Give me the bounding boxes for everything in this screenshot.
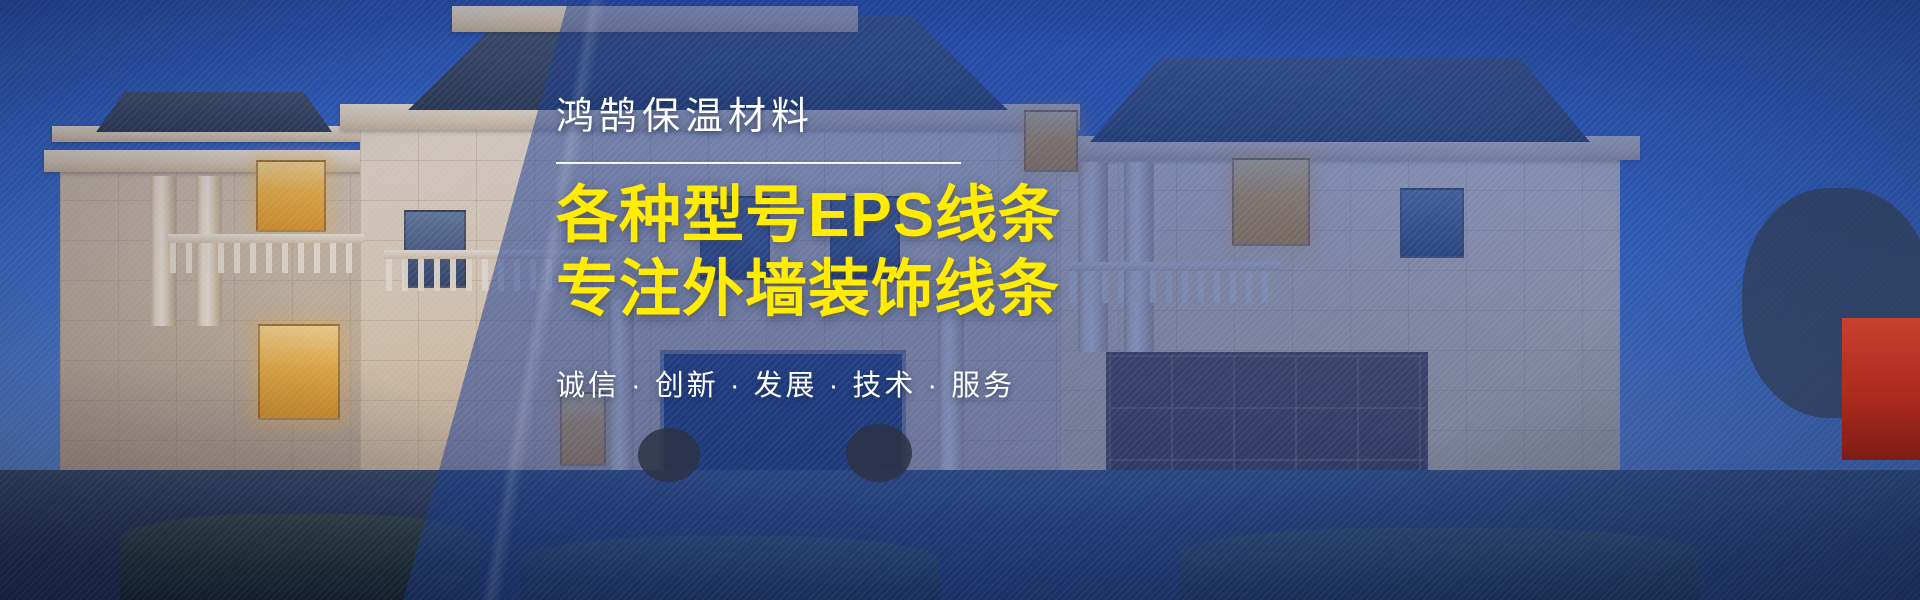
divider-rule: [556, 162, 961, 164]
headline-line-1: 各种型号EPS线条: [556, 182, 1316, 250]
tagline: 诚信 · 创新 · 发展 · 技术 · 服务: [556, 362, 1316, 404]
hero-banner: 鸿鹄保温材料 各种型号EPS线条 专注外墙装饰线条 诚信 · 创新 · 发展 ·…: [0, 0, 1920, 600]
shrub: [846, 424, 912, 482]
red-container: [1842, 318, 1920, 460]
brand-name: 鸿鹄保温材料: [556, 98, 1316, 136]
banner-copy: 鸿鹄保温材料 各种型号EPS线条 专注外墙装饰线条 诚信 · 创新 · 发展 ·…: [556, 98, 1316, 404]
shrub: [638, 428, 700, 482]
headline-line-2: 专注外墙装饰线条: [556, 256, 1316, 324]
